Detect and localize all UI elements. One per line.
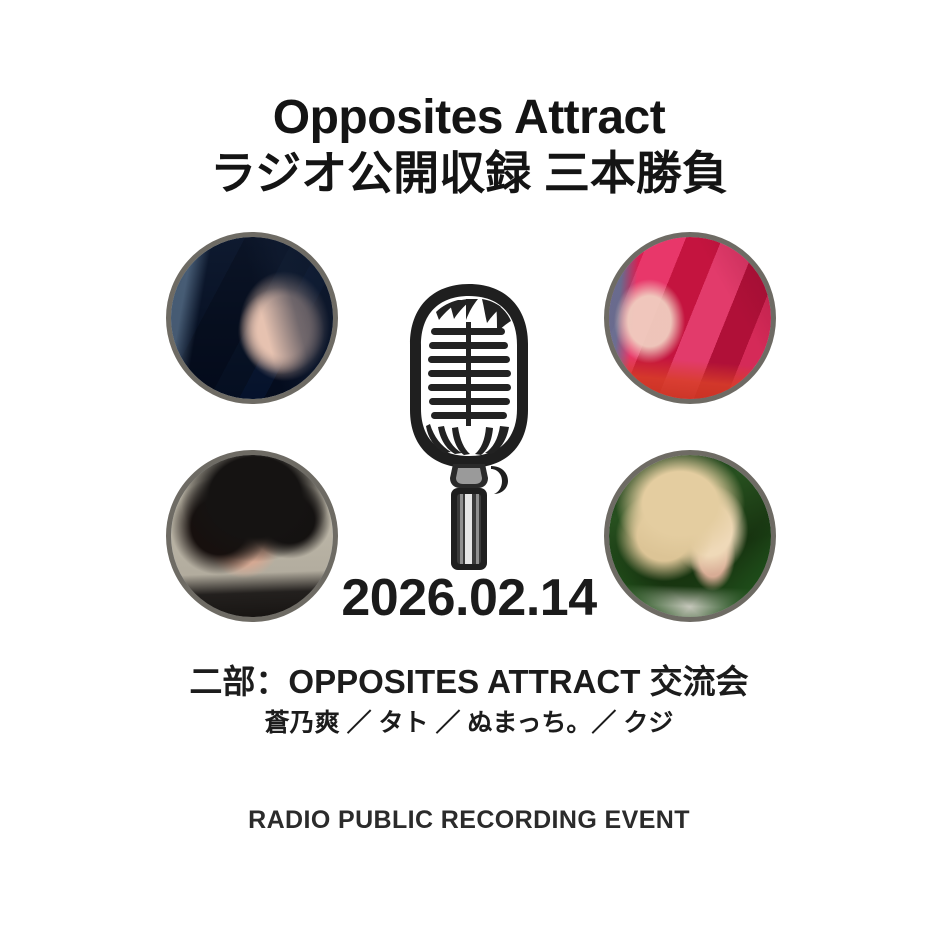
title-japanese: ラジオ公開収録 三本勝負	[0, 148, 938, 200]
portrait-image-blue-hair	[171, 237, 333, 399]
footer-tagline: RADIO PUBLIC RECORDING EVENT	[0, 806, 938, 835]
portrait-image-pink-hair	[609, 237, 771, 399]
event-date: 2026.02.14	[0, 568, 938, 628]
portrait-top-right	[604, 232, 776, 404]
portrait-top-left	[166, 232, 338, 404]
title-block: Opposites Attract ラジオ公開収録 三本勝負	[0, 92, 938, 199]
title-english: Opposites Attract	[0, 92, 938, 144]
retro-microphone-icon	[396, 282, 542, 572]
section-block: 二部：OPPOSITES ATTRACT 交流会 蒼乃爽 ／ タト ／ ぬまっち…	[0, 662, 938, 739]
poster-canvas: Opposites Attract ラジオ公開収録 三本勝負	[0, 0, 938, 938]
cast-list: 蒼乃爽 ／ タト ／ ぬまっち。／ クジ	[0, 708, 938, 739]
section-heading: 二部：OPPOSITES ATTRACT 交流会	[0, 662, 938, 702]
